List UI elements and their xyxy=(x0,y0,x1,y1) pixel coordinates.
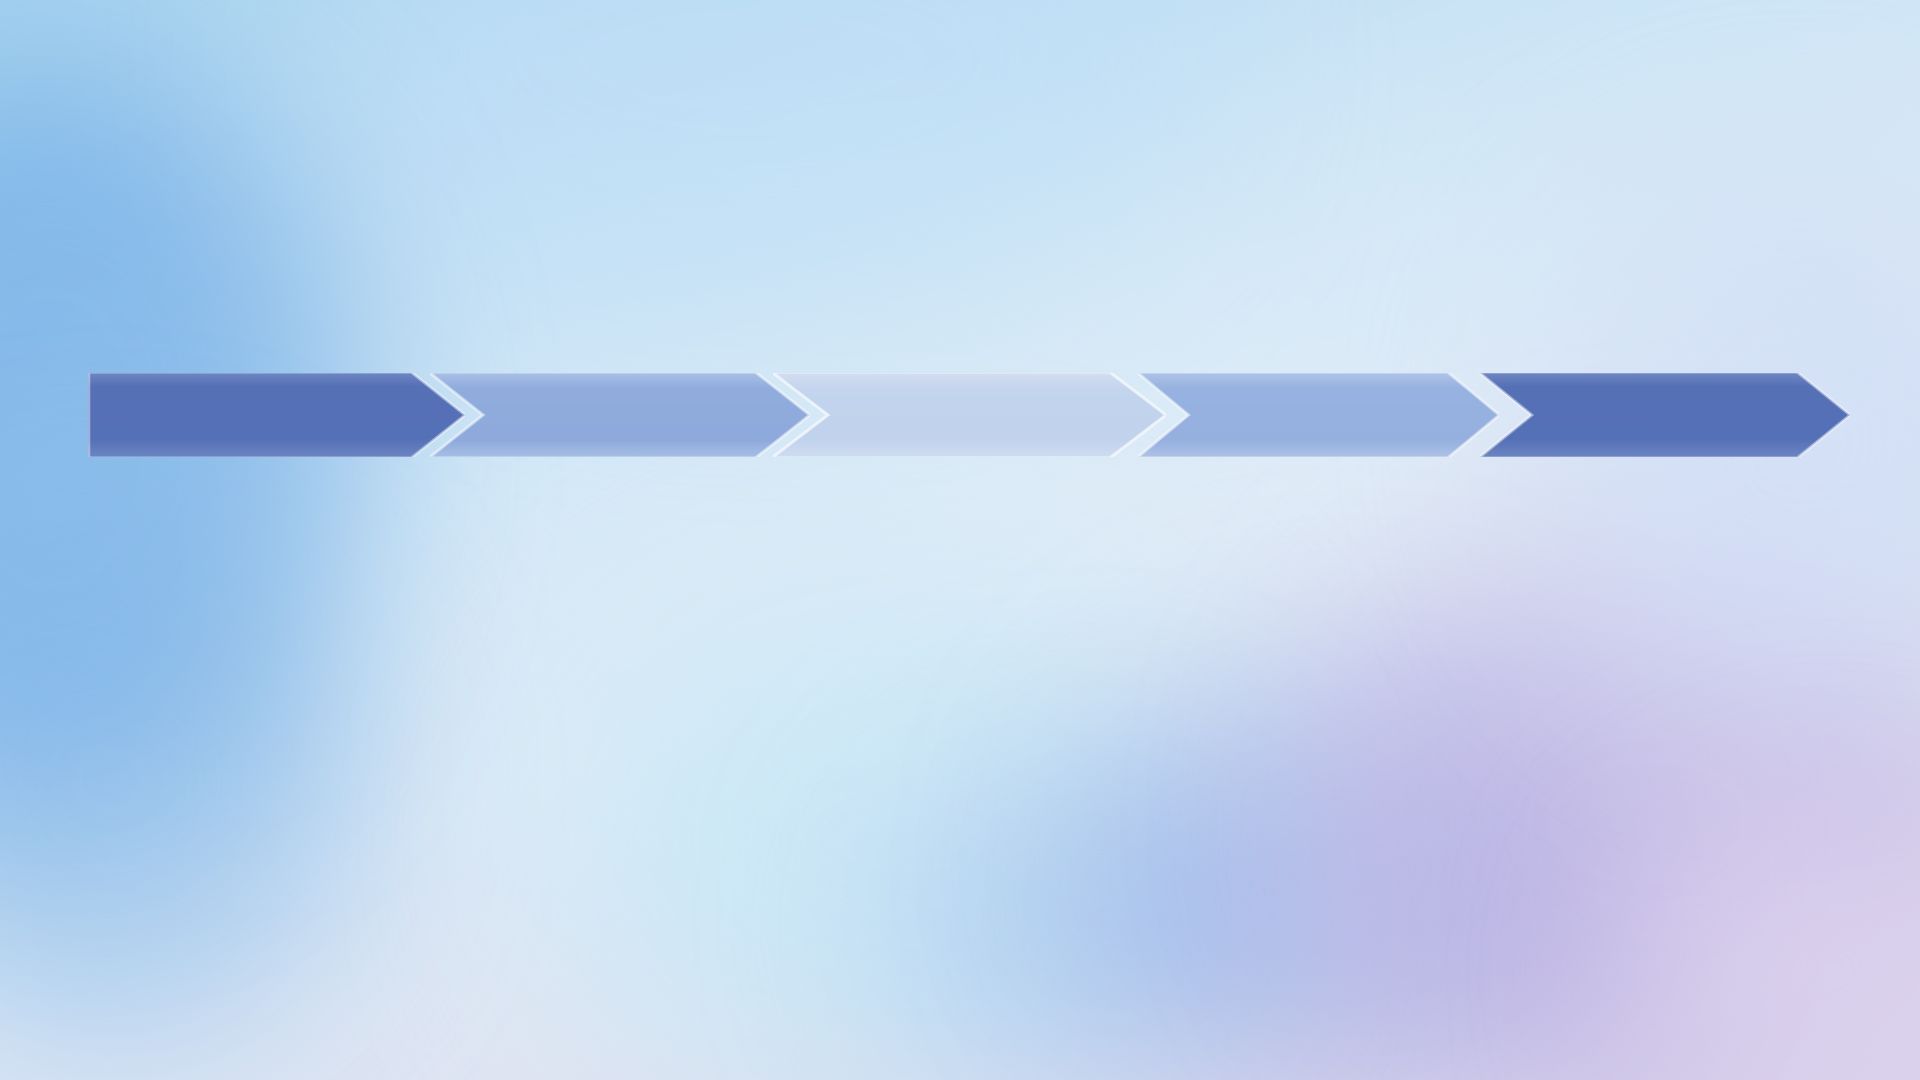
stage-arrow-asset[interactable] xyxy=(88,373,465,457)
stage-arrow-report[interactable] xyxy=(1480,373,1850,457)
chevron-shape-icon xyxy=(1138,373,1499,457)
chevron-shape-icon xyxy=(1480,373,1850,457)
stage-arrow-weakness[interactable] xyxy=(773,373,1166,457)
chevron-shape-icon xyxy=(430,373,810,457)
stage-arrow-intrusion[interactable] xyxy=(430,373,810,457)
chevron-shape-icon xyxy=(773,373,1166,457)
stage-arrow-analysis[interactable] xyxy=(1138,373,1499,457)
chevron-shape-icon xyxy=(88,373,465,457)
process-diagram xyxy=(0,0,1920,1080)
bottom-details-row xyxy=(90,0,1830,1080)
process-arrow-band xyxy=(88,373,1850,457)
